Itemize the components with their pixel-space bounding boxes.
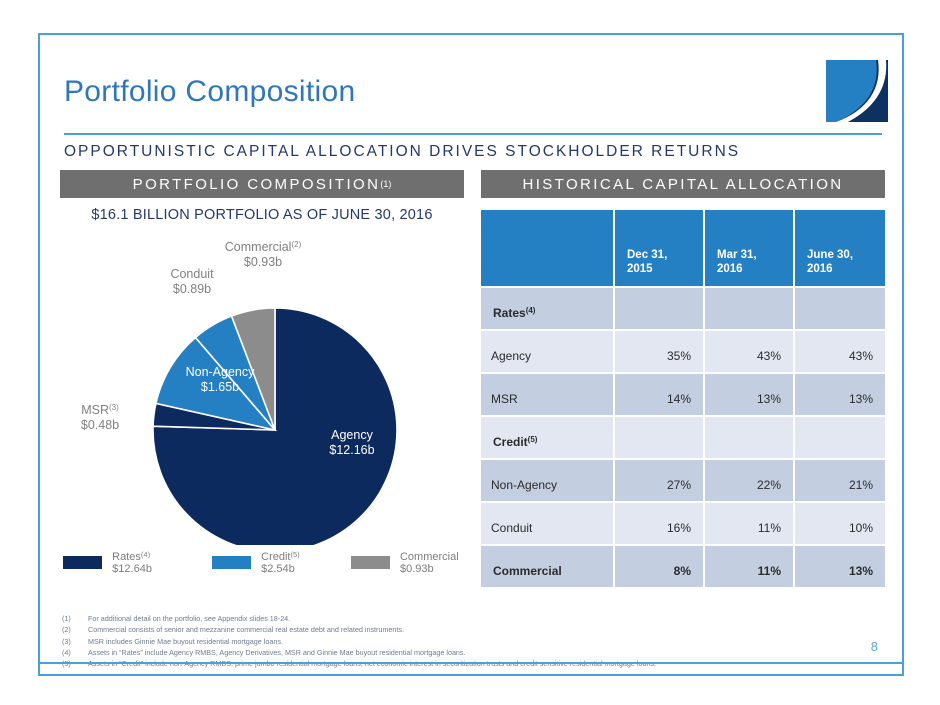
company-logo [826, 60, 888, 122]
table-row: Conduit16%11%10% [481, 503, 885, 546]
slide-frame: Portfolio Composition OPPORTUNISTIC CAPI… [38, 33, 904, 676]
page-subtitle: OPPORTUNISTIC CAPITAL ALLOCATION DRIVES … [64, 143, 740, 161]
footnote: (3)MSR includes Ginnie Mae buyout reside… [62, 636, 802, 647]
table-cell-value: 11% [705, 503, 795, 546]
page-number: 8 [871, 639, 878, 654]
table-row: Agency35%43%43% [481, 331, 885, 374]
table-cell-value: 43% [795, 331, 885, 374]
legend-item-rates: Rates(4) $12.64b [62, 550, 173, 575]
table-header-dec-31-2015: Dec 31, 2015 [615, 210, 705, 288]
table-cell-label-non-agency: Non-Agency [481, 460, 615, 503]
table-header-blank [481, 210, 615, 288]
pie-slice-group [153, 308, 397, 545]
table-cell-value [615, 417, 705, 460]
table-header-mar-line1: Mar 31, [717, 248, 757, 262]
pie-label-conduit-name: Conduit [170, 267, 213, 281]
table-header-mar-31-2016: Mar 31, 2016 [705, 210, 795, 288]
table-header-mar-line2: 2016 [717, 262, 757, 276]
section-bar-left-label: PORTFOLIO COMPOSITION [133, 176, 381, 193]
table-row: Non-Agency27%22%21% [481, 460, 885, 503]
table-cell-value [705, 288, 795, 331]
table-cell-label-commercial: Commercial [481, 546, 615, 589]
legend-swatch-rates [62, 555, 103, 570]
table-cell-value: 8% [615, 546, 705, 589]
table-cell-value: 35% [615, 331, 705, 374]
table-cell-label-conduit: Conduit [481, 503, 615, 546]
legend-swatch-commercial [350, 555, 391, 570]
table-cell-value: 22% [705, 460, 795, 503]
pie-label-non-agency-value: $1.65b [201, 380, 239, 394]
table-cell-value: 13% [795, 374, 885, 417]
table-cell-value: 11% [705, 546, 795, 589]
pie-label-commercial-value: $0.93b [244, 255, 282, 269]
table-cell-label-agency: Agency [481, 331, 615, 374]
table-cell-value [705, 417, 795, 460]
footnote-text: Commercial consists of senior and mezzan… [88, 624, 404, 635]
legend-label-rates: Rates(4) $12.64b [112, 550, 173, 575]
table-row: Credit(5) [481, 417, 885, 460]
pie-label-agency-value: $12.16b [329, 443, 374, 457]
footnote-number: (1) [62, 613, 88, 624]
legend-label-credit: Credit(5) $2.54b [261, 550, 318, 575]
title-divider [64, 133, 882, 135]
table-cell-value [615, 288, 705, 331]
table-cell-label-rates: Rates(4) [481, 288, 615, 331]
pie-label-conduit-value: $0.89b [173, 282, 211, 296]
legend-swatch-credit [211, 555, 252, 570]
pie-chart: Commercial(2) $0.93b Conduit $0.89b Non-… [60, 225, 470, 545]
table-cell-label-msr: MSR [481, 374, 615, 417]
table-cell-value: 13% [795, 546, 885, 589]
legend-item-credit: Credit(5) $2.54b [211, 550, 318, 575]
table-cell-value: 14% [615, 374, 705, 417]
footnote-text: For additional detail on the portfolio, … [88, 613, 290, 624]
pie-label-msr: MSR(3) $0.48b [62, 400, 138, 433]
table-header-row: Dec 31, 2015 Mar 31, 2016 June 30, 2016 [481, 210, 885, 288]
pie-chart-legend: Rates(4) $12.64bCredit(5) $2.54bCommerci… [62, 550, 472, 575]
pie-chart-caption: $16.1 BILLION PORTFOLIO AS OF JUNE 30, 2… [60, 207, 464, 223]
section-bar-portfolio-composition: PORTFOLIO COMPOSITION(1) [60, 170, 464, 198]
footnotes: (1)For additional detail on the portfoli… [62, 613, 802, 669]
table-cell-value: 43% [705, 331, 795, 374]
pie-label-agency-name: Agency [331, 428, 373, 442]
section-bar-historical-capital-allocation: HISTORICAL CAPITAL ALLOCATION [481, 170, 885, 198]
section-bar-left-sup: (1) [380, 179, 391, 189]
footnote: (4)Assets in “Rates” include Agency RMBS… [62, 647, 802, 658]
footnote-text: Assets in “Rates” include Agency RMBS, A… [88, 647, 466, 658]
footer-divider [40, 662, 902, 664]
table-row: Rates(4) [481, 288, 885, 331]
table-cell-label-credit: Credit(5) [481, 417, 615, 460]
table-row: MSR14%13%13% [481, 374, 885, 417]
table-cell-value [795, 288, 885, 331]
table-header-dec-line2: 2015 [627, 262, 667, 276]
table-cell-value: 10% [795, 503, 885, 546]
pie-label-non-agency: Non-Agency $1.65b [165, 365, 275, 395]
historical-capital-allocation-table: Dec 31, 2015 Mar 31, 2016 June 30, 2016 … [481, 210, 885, 589]
table-cell-value: 27% [615, 460, 705, 503]
pie-label-agency: Agency $12.16b [297, 428, 407, 458]
footnote-number: (2) [62, 624, 88, 635]
footnote: (2)Commercial consists of senior and mez… [62, 624, 802, 635]
legend-item-commercial: Commercial $0.93b [350, 551, 472, 575]
table-header-june-30-2016: June 30, 2016 [795, 210, 885, 288]
table-row: Commercial8%11%13% [481, 546, 885, 589]
pie-label-commercial-sup: (2) [291, 240, 301, 249]
pie-label-conduit: Conduit $0.89b [142, 267, 242, 297]
legend-label-commercial: Commercial $0.93b [400, 551, 472, 575]
table-header-jun-line2: 2016 [807, 262, 853, 276]
pie-label-msr-sup: (3) [109, 403, 119, 412]
pie-label-commercial: Commercial(2) $0.93b [198, 237, 328, 270]
section-bar-right-label: HISTORICAL CAPITAL ALLOCATION [522, 176, 843, 193]
table-cell-value [795, 417, 885, 460]
table-cell-value: 16% [615, 503, 705, 546]
footnote: (1)For additional detail on the portfoli… [62, 613, 802, 624]
pie-label-non-agency-name: Non-Agency [186, 365, 255, 379]
table-body: Rates(4)Agency35%43%43%MSR14%13%13%Credi… [481, 288, 885, 589]
footnote-number: (4) [62, 647, 88, 658]
pie-label-msr-value: $0.48b [81, 418, 119, 432]
table-header-dec-line1: Dec 31, [627, 248, 667, 262]
footnote-text: MSR includes Ginnie Mae buyout residenti… [88, 636, 283, 647]
table-cell-value: 21% [795, 460, 885, 503]
pie-label-msr-name: MSR [81, 403, 109, 417]
pie-label-commercial-name: Commercial [225, 240, 292, 254]
table-cell-value: 13% [705, 374, 795, 417]
table-header-jun-line1: June 30, [807, 248, 853, 262]
footnote-number: (3) [62, 636, 88, 647]
page-title: Portfolio Composition [64, 75, 355, 109]
